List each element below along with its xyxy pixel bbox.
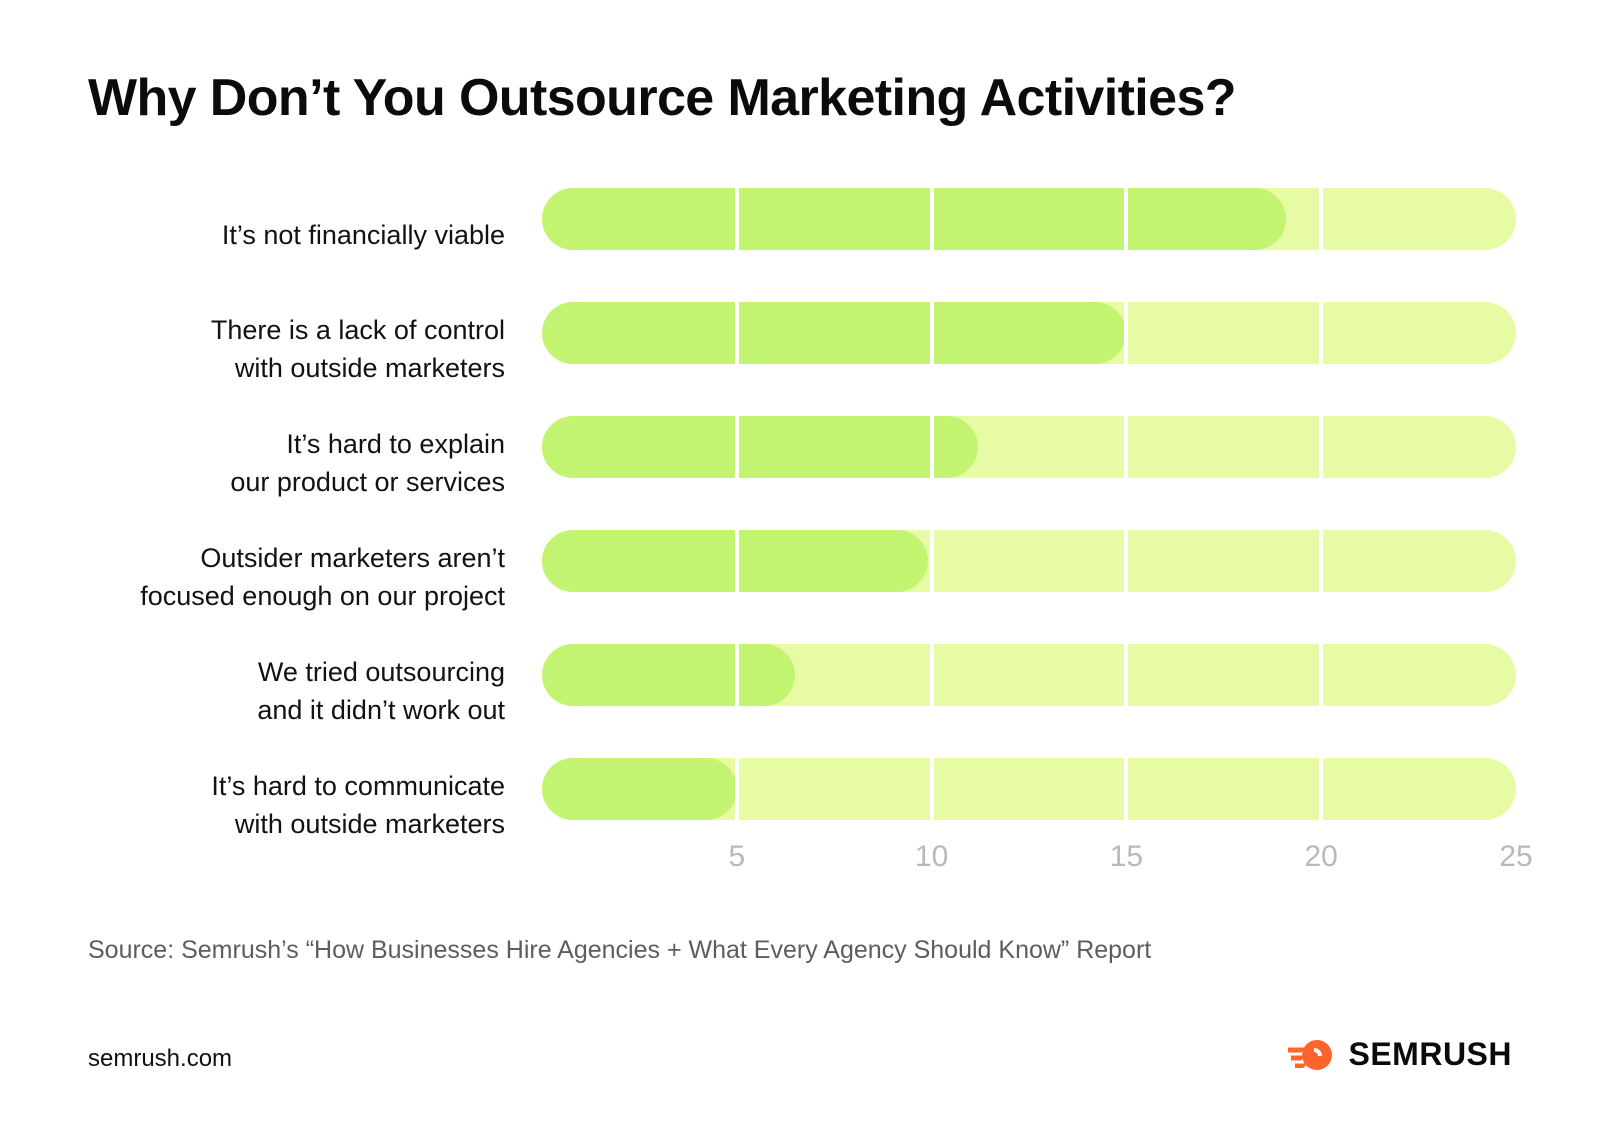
bar-track: [542, 530, 1516, 592]
bar-fill: [542, 644, 795, 706]
gridline: [930, 302, 934, 364]
chart-row: It’s hard to explain our product or serv…: [0, 406, 1600, 520]
bar-fill: [542, 758, 737, 820]
footer-website-url: semrush.com: [88, 1045, 232, 1073]
gridline: [1124, 188, 1128, 250]
gridline: [1124, 416, 1128, 478]
gridline: [1319, 644, 1323, 706]
x-axis-tick-label: 25: [1499, 840, 1532, 874]
gridline: [930, 758, 934, 820]
semrush-logo: SEMRUSH: [1288, 1036, 1512, 1073]
gridline: [735, 416, 739, 478]
bar-track: [542, 644, 1516, 706]
gridline: [1124, 644, 1128, 706]
source-note: Source: Semrush’s “How Businesses Hire A…: [88, 936, 1151, 965]
gridline: [930, 416, 934, 478]
gridline: [1124, 758, 1128, 820]
chart-row: It’s not financially viable: [0, 178, 1600, 292]
chart-row: Outsider marketers aren’t focused enough…: [0, 520, 1600, 634]
gridline: [1124, 530, 1128, 592]
page-title: Why Don’t You Outsource Marketing Activi…: [88, 68, 1236, 128]
bar-track: [542, 758, 1516, 820]
category-label: We tried outsourcing and it didn’t work …: [0, 653, 505, 729]
bar-fill: [542, 188, 1286, 250]
gridline: [735, 188, 739, 250]
gridline: [930, 530, 934, 592]
category-label: It’s not financially viable: [0, 216, 505, 254]
gridline: [930, 644, 934, 706]
bar-track: [542, 302, 1516, 364]
gridline: [735, 644, 739, 706]
category-label: It’s hard to explain our product or serv…: [0, 425, 505, 501]
bar-fill: [542, 302, 1126, 364]
x-axis-tick-label: 20: [1305, 840, 1338, 874]
gridline: [1319, 758, 1323, 820]
gridline: [735, 758, 739, 820]
gridline: [1319, 302, 1323, 364]
infographic-page: Why Don’t You Outsource Marketing Activi…: [0, 0, 1600, 1125]
x-axis-tick-label: 5: [728, 840, 745, 874]
bar-fill: [542, 416, 978, 478]
semrush-comet-icon: [1288, 1038, 1334, 1072]
gridline: [1319, 530, 1323, 592]
bar-chart: It’s not financially viableThere is a la…: [0, 178, 1600, 862]
gridline: [735, 530, 739, 592]
x-axis: 510152025: [0, 840, 1600, 890]
bar-track: [542, 188, 1516, 250]
category-label: There is a lack of control with outside …: [0, 311, 505, 387]
chart-row: There is a lack of control with outside …: [0, 292, 1600, 406]
gridline: [1319, 188, 1323, 250]
bar-track: [542, 416, 1516, 478]
semrush-wordmark: SEMRUSH: [1348, 1036, 1512, 1073]
gridline: [1124, 302, 1128, 364]
category-label: It’s hard to communicate with outside ma…: [0, 767, 505, 843]
category-label: Outsider marketers aren’t focused enough…: [0, 539, 505, 615]
gridline: [930, 188, 934, 250]
x-axis-tick-label: 15: [1110, 840, 1143, 874]
gridline: [1319, 416, 1323, 478]
chart-row: We tried outsourcing and it didn’t work …: [0, 634, 1600, 748]
gridline: [735, 302, 739, 364]
x-axis-tick-label: 10: [915, 840, 948, 874]
